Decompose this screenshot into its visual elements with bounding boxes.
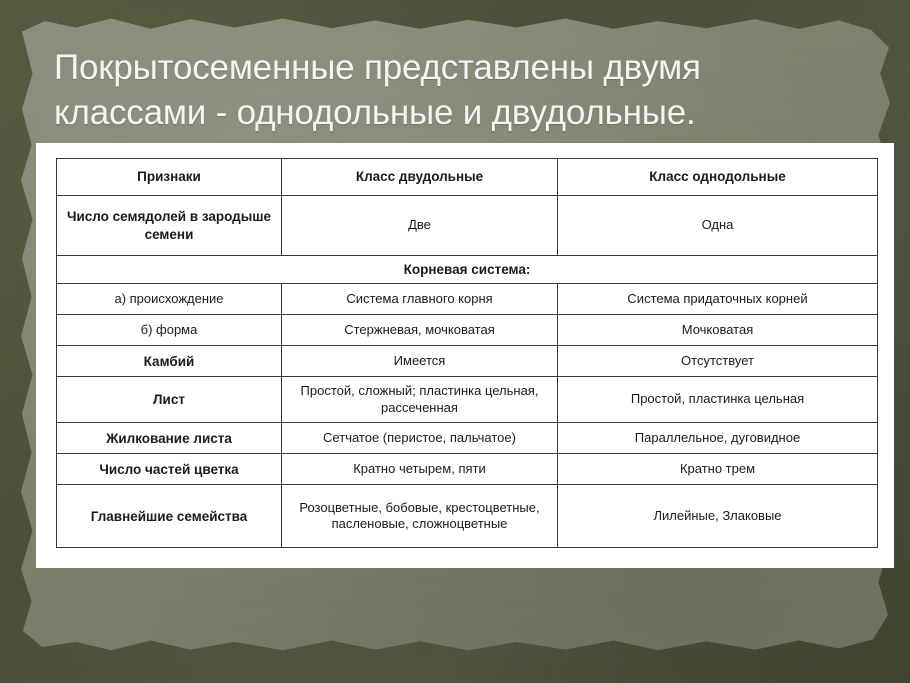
page-title: Покрытосеменные представлены двумя класс…: [54, 46, 844, 136]
cell-monocot: Мочковатая: [558, 315, 878, 346]
table-row: б) формаСтержневая, мочковатаяМочковатая: [57, 315, 878, 346]
cell-monocot: Одна: [558, 196, 878, 256]
cell-monocot: Лилейные, Злаковые: [558, 485, 878, 548]
cell-feature: Лист: [57, 377, 282, 423]
cell-monocot: Простой, пластинка цельная: [558, 377, 878, 423]
table-row: а) происхождениеСистема главного корняСи…: [57, 284, 878, 315]
table-section-label: Корневая система:: [57, 256, 878, 284]
cell-feature: Камбий: [57, 346, 282, 377]
table-card: Признаки Класс двудольные Класс однодоль…: [36, 143, 894, 568]
cell-dicot: Имеется: [282, 346, 558, 377]
cell-dicot: Простой, сложный; пластинка цельная, рас…: [282, 377, 558, 423]
slide-root: Покрытосеменные представлены двумя класс…: [0, 0, 910, 683]
cell-monocot: Кратно трем: [558, 454, 878, 485]
cell-feature: а) происхождение: [57, 284, 282, 315]
column-header-monocot: Класс однодольные: [558, 159, 878, 196]
table-body: Число семядолей в зародыше семениДвеОдна…: [57, 196, 878, 548]
cell-feature: Число частей цветка: [57, 454, 282, 485]
table-row: Число семядолей в зародыше семениДвеОдна: [57, 196, 878, 256]
table-row: Жилкование листаСетчатое (перистое, паль…: [57, 423, 878, 454]
column-header-feature: Признаки: [57, 159, 282, 196]
cell-dicot: Стержневая, мочковатая: [282, 315, 558, 346]
cell-monocot: Система придаточных корней: [558, 284, 878, 315]
cell-dicot: Кратно четырем, пяти: [282, 454, 558, 485]
table-header: Признаки Класс двудольные Класс однодоль…: [57, 159, 878, 196]
table-header-row: Признаки Класс двудольные Класс однодоль…: [57, 159, 878, 196]
cell-dicot: Система главного корня: [282, 284, 558, 315]
comparison-table: Признаки Класс двудольные Класс однодоль…: [56, 158, 878, 548]
cell-feature: Главнейшие семейства: [57, 485, 282, 548]
cell-feature: Жилкование листа: [57, 423, 282, 454]
table-row: Число частей цветкаКратно четырем, пятиК…: [57, 454, 878, 485]
cell-monocot: Параллельное, дуговидное: [558, 423, 878, 454]
table-row: КамбийИмеетсяОтсутствует: [57, 346, 878, 377]
cell-monocot: Отсутствует: [558, 346, 878, 377]
cell-dicot: Розоцветные, бобовые, крестоцветные, пас…: [282, 485, 558, 548]
cell-feature: б) форма: [57, 315, 282, 346]
table-row: Главнейшие семействаРозоцветные, бобовые…: [57, 485, 878, 548]
column-header-dicot: Класс двудольные: [282, 159, 558, 196]
cell-dicot: Сетчатое (перистое, пальчатое): [282, 423, 558, 454]
table-row: ЛистПростой, сложный; пластинка цельная,…: [57, 377, 878, 423]
table-section-row: Корневая система:: [57, 256, 878, 284]
cell-feature: Число семядолей в зародыше семени: [57, 196, 282, 256]
cell-dicot: Две: [282, 196, 558, 256]
